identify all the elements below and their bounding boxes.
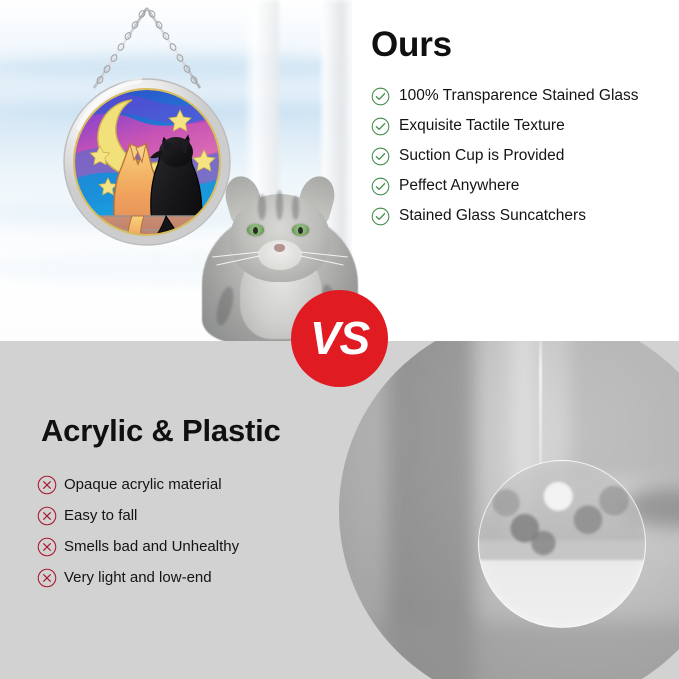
cat-fur-stripe bbox=[292, 196, 299, 220]
list-item: Suction Cup is Provided bbox=[371, 141, 639, 171]
list-item: Opaque acrylic material bbox=[37, 469, 239, 500]
list-item: Exquisite Tactile Texture bbox=[371, 111, 639, 141]
feature-label: Stained Glass Suncatchers bbox=[399, 207, 586, 225]
acrylic-ornament-disc bbox=[478, 460, 646, 628]
competitor-drawback-list: Opaque acrylic material Easy to fall Sme… bbox=[37, 469, 239, 593]
drawback-label: Very light and low-end bbox=[64, 569, 212, 586]
ours-feature-list: 100% Transparence Stained Glass Exquisit… bbox=[371, 81, 639, 231]
cat-pupil bbox=[253, 227, 258, 234]
check-circle-icon bbox=[371, 117, 390, 136]
foliage-reflection bbox=[478, 460, 646, 561]
cat-eye-right bbox=[292, 224, 309, 236]
list-item: 100% Transparence Stained Glass bbox=[371, 81, 639, 111]
feature-label: Exquisite Tactile Texture bbox=[399, 117, 565, 135]
feature-label: 100% Transparence Stained Glass bbox=[399, 87, 639, 105]
list-item: Peffect Anywhere bbox=[371, 171, 639, 201]
drawback-label: Opaque acrylic material bbox=[64, 476, 222, 493]
cross-circle-icon bbox=[37, 475, 57, 495]
cross-circle-icon bbox=[37, 506, 57, 526]
competitor-heading: Acrylic & Plastic bbox=[41, 413, 281, 449]
list-item: Easy to fall bbox=[37, 500, 239, 531]
cross-circle-icon bbox=[37, 568, 57, 588]
list-item: Very light and low-end bbox=[37, 562, 239, 593]
check-circle-icon bbox=[371, 87, 390, 106]
cat-fur-stripe bbox=[276, 190, 283, 220]
drawback-label: Easy to fall bbox=[64, 507, 137, 524]
feature-label: Suction Cup is Provided bbox=[399, 147, 564, 165]
ours-heading: Ours bbox=[371, 25, 452, 65]
vs-label: VS bbox=[310, 315, 369, 361]
list-item: Stained Glass Suncatchers bbox=[371, 201, 639, 231]
vs-badge: VS bbox=[291, 290, 388, 387]
check-circle-icon bbox=[371, 147, 390, 166]
competitor-section: Acrylic & Plastic Opaque acrylic materia… bbox=[0, 341, 679, 679]
stained-glass-suncatcher-image bbox=[58, 2, 236, 264]
cat-nose bbox=[274, 244, 285, 252]
check-circle-icon bbox=[371, 177, 390, 196]
cat-fur-stripe bbox=[258, 194, 266, 220]
list-item: Smells bad and Unhealthy bbox=[37, 531, 239, 562]
feature-label: Peffect Anywhere bbox=[399, 177, 519, 195]
drawback-label: Smells bad and Unhealthy bbox=[64, 538, 239, 555]
photo-blur-region bbox=[569, 341, 679, 479]
product-comparison-graphic: Ours 100% Transparence Stained Glass Exq… bbox=[0, 0, 679, 679]
cat-eye-left bbox=[247, 224, 264, 236]
cross-circle-icon bbox=[37, 537, 57, 557]
acrylic-disc-photo bbox=[339, 341, 679, 679]
check-circle-icon bbox=[371, 207, 390, 226]
hanging-string bbox=[539, 341, 542, 463]
cat-pupil bbox=[298, 227, 303, 234]
photo-blur-region bbox=[339, 622, 679, 679]
